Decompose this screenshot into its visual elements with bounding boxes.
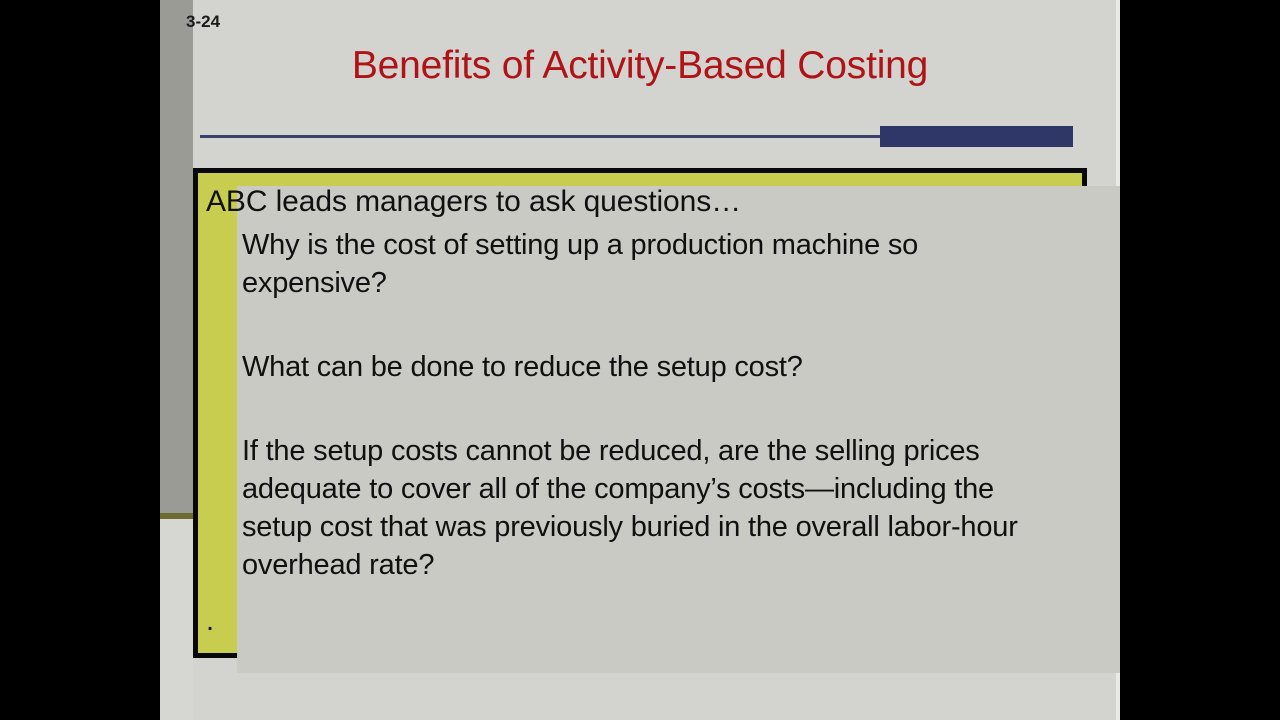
slide-left-accent-band (160, 0, 193, 513)
slide-number: 3-24 (186, 12, 220, 32)
spacer (204, 386, 1068, 432)
content-callout-inner: ABC leads managers to ask questions… Why… (198, 173, 1082, 653)
slide-left-lower-band (160, 519, 193, 720)
content-callout-box: ABC leads managers to ask questions… Why… (193, 168, 1087, 658)
presentation-slide: 3-24 Benefits of Activity-Based Costing … (160, 0, 1120, 720)
content-trailing-mark: . (206, 616, 214, 626)
content-paragraph-3: If the setup costs cannot be reduced, ar… (242, 432, 1068, 584)
page-title: Benefits of Activity-Based Costing (200, 44, 1080, 88)
video-frame: 3-24 Benefits of Activity-Based Costing … (0, 0, 1280, 720)
content-paragraph-2: What can be done to reduce the setup cos… (242, 348, 1068, 386)
title-accent-block (880, 126, 1073, 147)
content-paragraph-1: Why is the cost of setting up a producti… (242, 226, 1068, 302)
spacer (204, 302, 1068, 348)
content-heading: ABC leads managers to ask questions… (206, 181, 1068, 222)
